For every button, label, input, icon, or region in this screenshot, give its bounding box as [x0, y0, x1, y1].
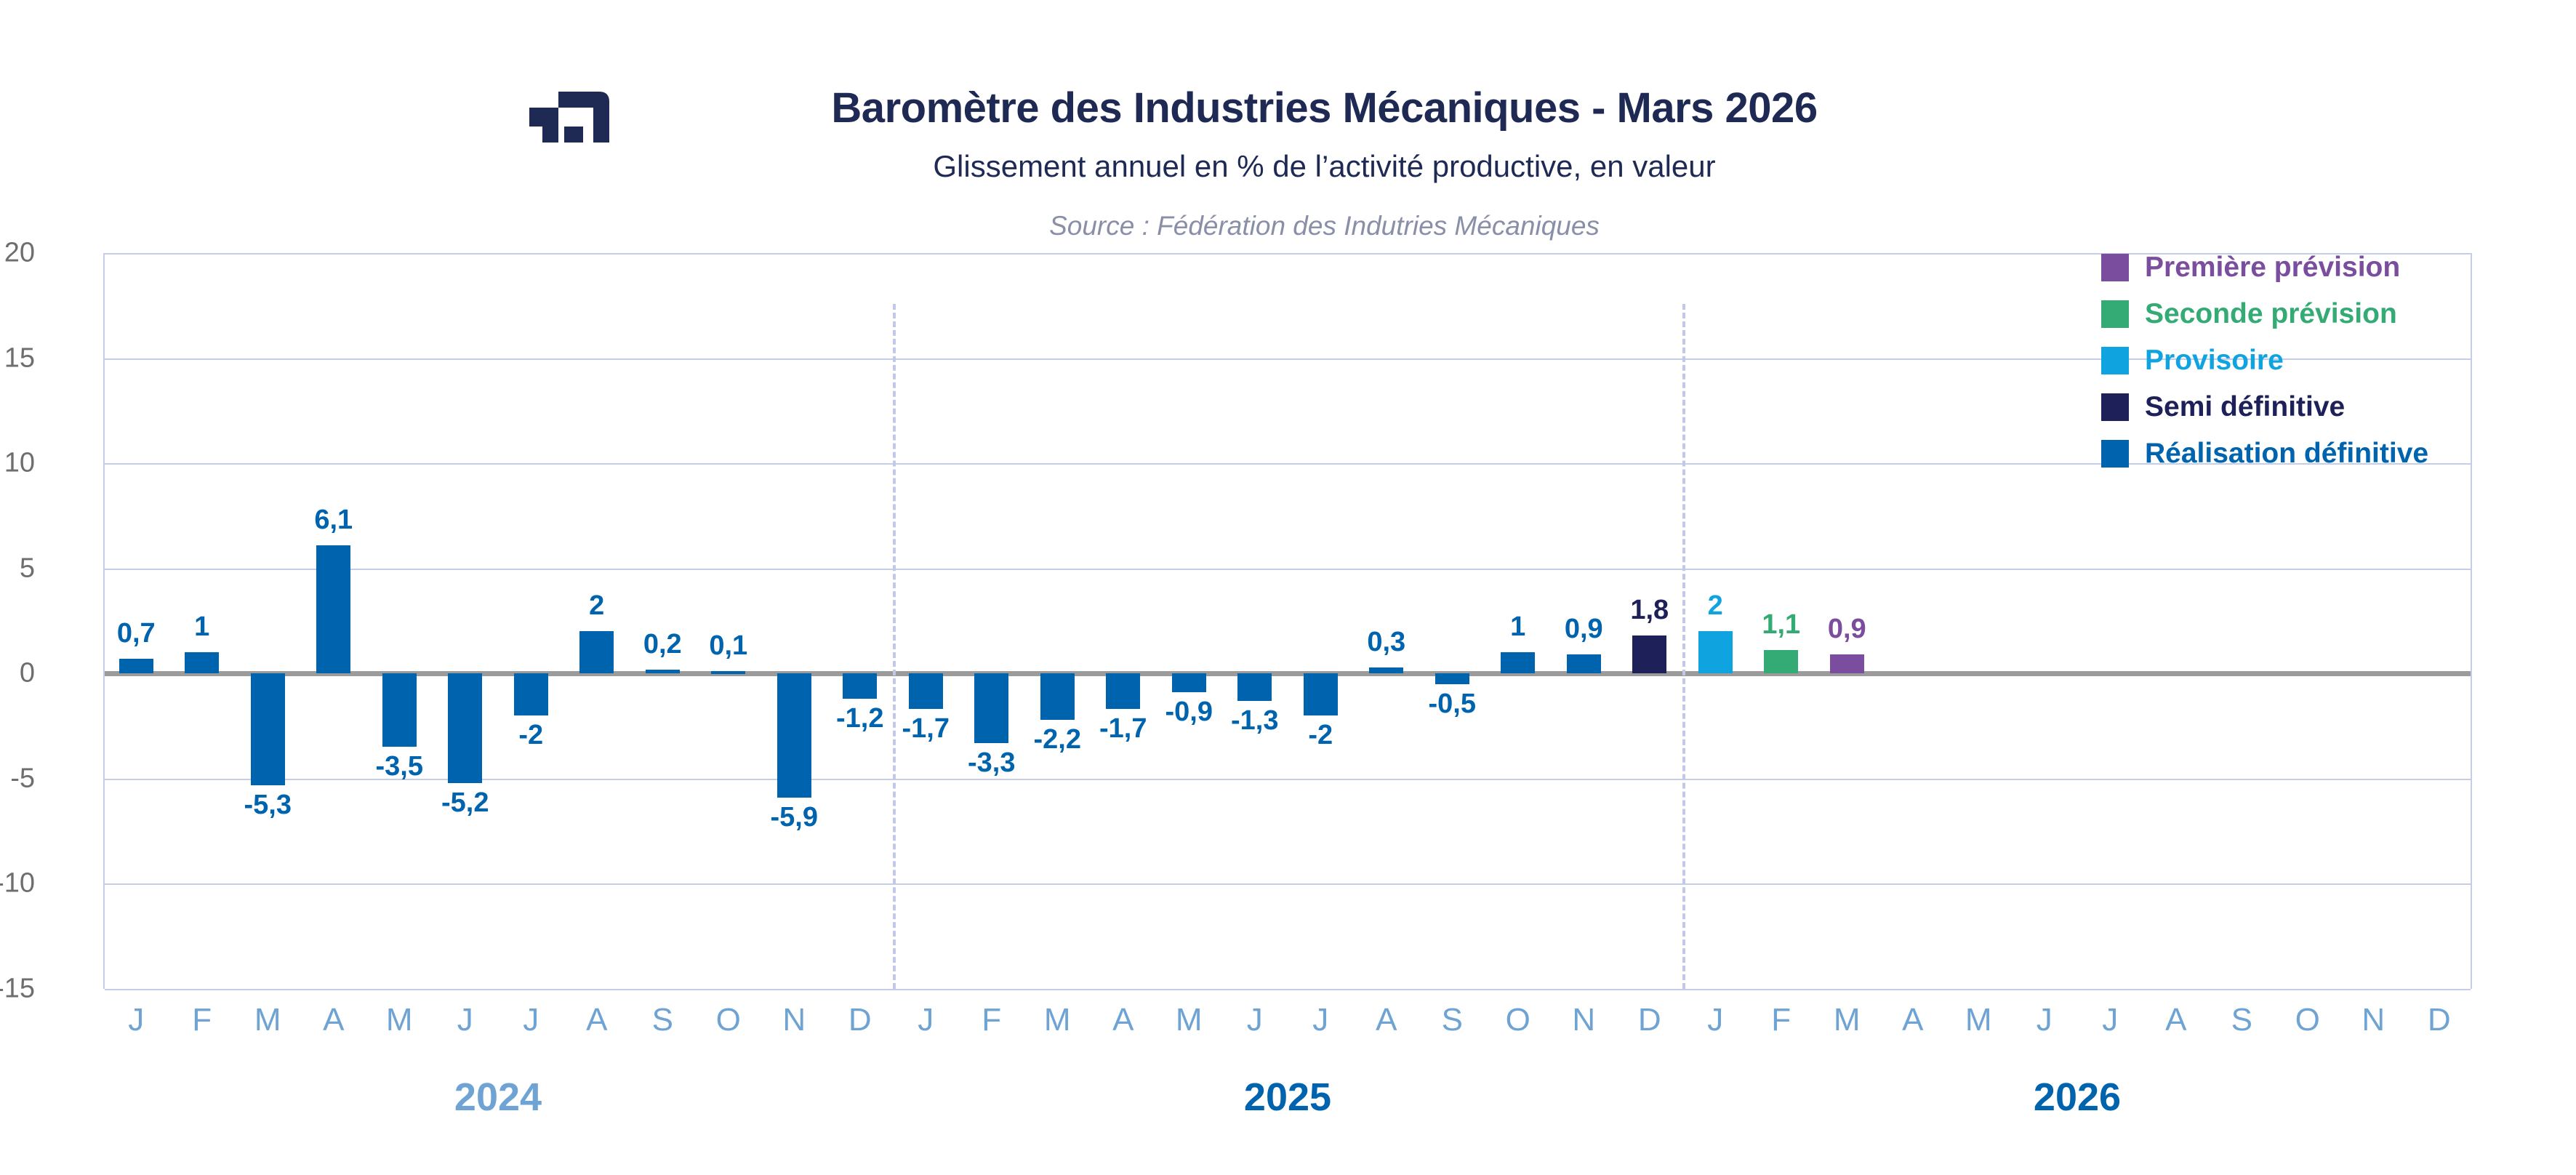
- bar-value-label: -2: [1308, 720, 1333, 751]
- x-axis-month-label: S: [2231, 1002, 2252, 1038]
- legend-item-label: Première prévision: [2145, 252, 2400, 284]
- chart-bar: [1501, 652, 1535, 673]
- y-axis-tick-label: 15: [0, 342, 35, 374]
- bar-value-label: 2: [1708, 590, 1723, 622]
- x-axis-month-label: O: [716, 1002, 741, 1038]
- legend-swatch-icon: [2101, 300, 2129, 328]
- legend-item-label: Semi définitive: [2145, 391, 2345, 423]
- x-axis-month-label: J: [2102, 1002, 2118, 1038]
- chart-bar: [1764, 650, 1798, 673]
- gridline: [105, 883, 2471, 885]
- bar-value-label: 0,9: [1828, 614, 1866, 645]
- chart-bar: [119, 659, 153, 673]
- x-axis-month-label: A: [323, 1002, 344, 1038]
- chart-bar: [1567, 654, 1601, 673]
- bar-value-label: 1: [1510, 611, 1525, 643]
- chart-bar: [1698, 631, 1733, 673]
- x-axis-month-label: A: [1376, 1002, 1397, 1038]
- x-axis-month-label: F: [1771, 1002, 1791, 1038]
- legend-item[interactable]: Seconde prévision: [2101, 291, 2552, 337]
- bar-value-label: 6,1: [314, 505, 353, 536]
- chart-bar: [1237, 673, 1272, 701]
- legend-swatch-icon: [2101, 440, 2129, 468]
- chart-bar: [777, 673, 811, 798]
- legend-swatch-icon: [2101, 254, 2129, 281]
- bar-value-label: -2,2: [1034, 724, 1081, 755]
- x-axis-month-label: M: [1176, 1002, 1203, 1038]
- x-axis-month-label: D: [2428, 1002, 2451, 1038]
- chart-bar: [382, 673, 417, 747]
- y-axis-tick-label: 5: [0, 553, 35, 584]
- legend-item[interactable]: Semi définitive: [2101, 384, 2552, 430]
- chart-bar: [843, 673, 877, 699]
- chart-bar: [514, 673, 548, 715]
- x-axis-month-label: J: [1312, 1002, 1328, 1038]
- bar-value-label: -1,7: [902, 713, 950, 745]
- legend-item-label: Réalisation définitive: [2145, 438, 2428, 470]
- x-axis-month-label: M: [386, 1002, 413, 1038]
- chart-legend: Première prévisionSeconde prévisionProvi…: [2101, 244, 2552, 477]
- legend-swatch-icon: [2101, 393, 2129, 421]
- chart-plot-wrapper: 20151050-5-10-150,71-5,36,1-3,5-5,2-220,…: [0, 0, 2576, 1175]
- x-axis-month-label: S: [1442, 1002, 1463, 1038]
- bar-value-label: -2: [518, 720, 543, 751]
- x-axis-month-label: F: [982, 1002, 1001, 1038]
- bar-value-label: 1,1: [1762, 609, 1800, 641]
- bar-value-label: -3,3: [968, 747, 1015, 779]
- legend-item[interactable]: Réalisation définitive: [2101, 430, 2552, 477]
- chart-bar: [1369, 667, 1403, 674]
- gridline: [105, 569, 2471, 570]
- chart-bar: [579, 631, 614, 673]
- chart-bar: [1632, 635, 1666, 673]
- bar-value-label: 0,1: [709, 630, 747, 662]
- x-axis-month-label: O: [2295, 1002, 2320, 1038]
- chart-bar: [448, 673, 482, 782]
- legend-item[interactable]: Provisoire: [2101, 337, 2552, 384]
- x-axis-month-label: N: [2362, 1002, 2385, 1038]
- x-axis-year-label: 2024: [454, 1075, 542, 1120]
- x-axis-month-label: J: [2037, 1002, 2053, 1038]
- x-axis-month-label: M: [1044, 1002, 1071, 1038]
- x-axis-month-label: F: [192, 1002, 212, 1038]
- x-axis-month-label: D: [1638, 1002, 1661, 1038]
- bar-value-label: -0,5: [1429, 689, 1476, 720]
- bar-value-label: -0,9: [1165, 697, 1213, 728]
- chart-bar: [711, 671, 745, 674]
- x-axis-month-label: O: [1506, 1002, 1530, 1038]
- bar-value-label: 2: [589, 590, 604, 622]
- chart-bar: [251, 673, 285, 785]
- bar-value-label: -1,7: [1099, 713, 1147, 745]
- year-divider: [1682, 304, 1685, 989]
- bar-value-label: -3,5: [376, 751, 423, 782]
- x-axis-month-label: A: [1902, 1002, 1923, 1038]
- bar-value-label: 1,8: [1630, 595, 1669, 626]
- bar-value-label: 0,7: [117, 618, 156, 649]
- chart-bar: [185, 652, 219, 673]
- x-axis-month-label: J: [457, 1002, 473, 1038]
- chart-bar: [316, 545, 350, 673]
- legend-item-label: Seconde prévision: [2145, 298, 2397, 330]
- x-axis-month-label: M: [254, 1002, 281, 1038]
- chart-bar: [1304, 673, 1338, 715]
- bar-value-label: -5,2: [441, 787, 489, 819]
- chart-bar: [1172, 673, 1206, 692]
- x-axis-month-label: A: [2165, 1002, 2186, 1038]
- x-axis-month-label: A: [1112, 1002, 1133, 1038]
- y-axis-tick-label: 10: [0, 448, 35, 479]
- x-axis-month-label: D: [848, 1002, 872, 1038]
- x-axis-year-label: 2026: [2034, 1075, 2121, 1120]
- x-axis-month-label: J: [1707, 1002, 1723, 1038]
- legend-item[interactable]: Première prévision: [2101, 244, 2552, 291]
- x-axis-month-label: J: [523, 1002, 539, 1038]
- bar-value-label: -1,3: [1231, 705, 1278, 737]
- x-axis-year-label: 2025: [1244, 1075, 1331, 1120]
- bar-value-label: 0,3: [1367, 627, 1405, 658]
- year-divider: [893, 304, 896, 989]
- x-axis-month-label: J: [128, 1002, 144, 1038]
- y-axis-tick-label: 20: [0, 238, 35, 269]
- chart-bar: [974, 673, 1008, 742]
- x-axis-month-label: M: [1834, 1002, 1861, 1038]
- y-axis-tick-label: -10: [0, 868, 35, 899]
- chart-bar: [1435, 673, 1469, 683]
- x-axis-month-label: N: [782, 1002, 806, 1038]
- bar-value-label: 0,9: [1565, 614, 1603, 645]
- x-axis-month-label: M: [1965, 1002, 1992, 1038]
- bar-value-label: -5,3: [244, 790, 292, 821]
- y-axis-tick-label: -5: [0, 763, 35, 794]
- y-axis-tick-label: 0: [0, 658, 35, 689]
- legend-swatch-icon: [2101, 347, 2129, 374]
- x-axis-month-label: J: [918, 1002, 934, 1038]
- x-axis-month-label: S: [652, 1002, 673, 1038]
- chart-bar: [1106, 673, 1140, 709]
- gridline: [105, 989, 2471, 990]
- bar-value-label: 1: [194, 611, 209, 643]
- x-axis-month-label: J: [1247, 1002, 1263, 1038]
- bar-value-label: 0,2: [643, 629, 682, 660]
- chart-bar: [1830, 654, 1864, 673]
- y-axis-tick-label: -15: [0, 974, 35, 1005]
- x-axis-month-label: N: [1572, 1002, 1595, 1038]
- bar-value-label: -5,9: [771, 802, 818, 833]
- bar-value-label: -1,2: [836, 703, 883, 734]
- x-axis-month-label: A: [586, 1002, 607, 1038]
- legend-item-label: Provisoire: [2145, 345, 2284, 377]
- chart-bar: [1040, 673, 1075, 720]
- chart-bar: [909, 673, 943, 709]
- chart-bar: [646, 670, 680, 674]
